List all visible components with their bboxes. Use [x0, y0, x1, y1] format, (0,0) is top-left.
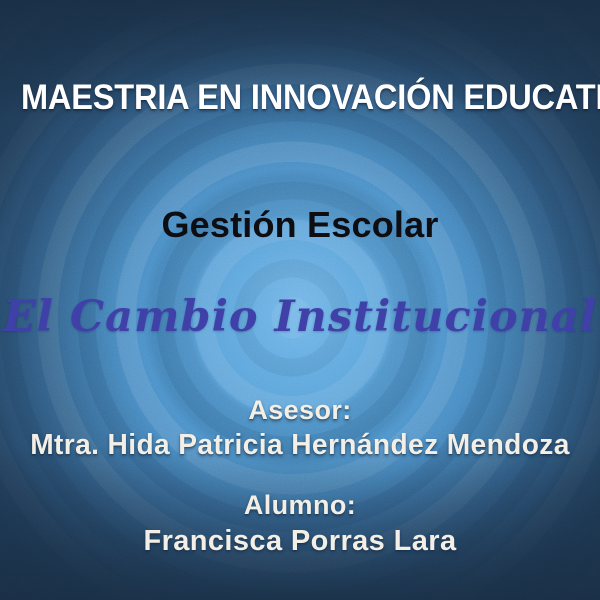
course-subtitle: Gestión Escolar	[0, 203, 600, 247]
page-title: MAESTRIA EN INNOVACIÓN EDUCATIVA	[21, 77, 579, 119]
advisor-name: Mtra. Hida Patricia Hernández Mendoza	[9, 427, 591, 463]
presentation-slide: MAESTRIA EN INNOVACIÓN EDUCATIVA Gestión…	[0, 0, 600, 600]
student-name: Francisca Porras Lara	[0, 523, 600, 559]
advisor-label: Asesor:	[0, 394, 600, 426]
slide-content: MAESTRIA EN INNOVACIÓN EDUCATIVA Gestión…	[0, 0, 600, 600]
student-label: Alumno:	[0, 489, 600, 521]
topic-title: El Cambio Institucional	[0, 290, 600, 344]
